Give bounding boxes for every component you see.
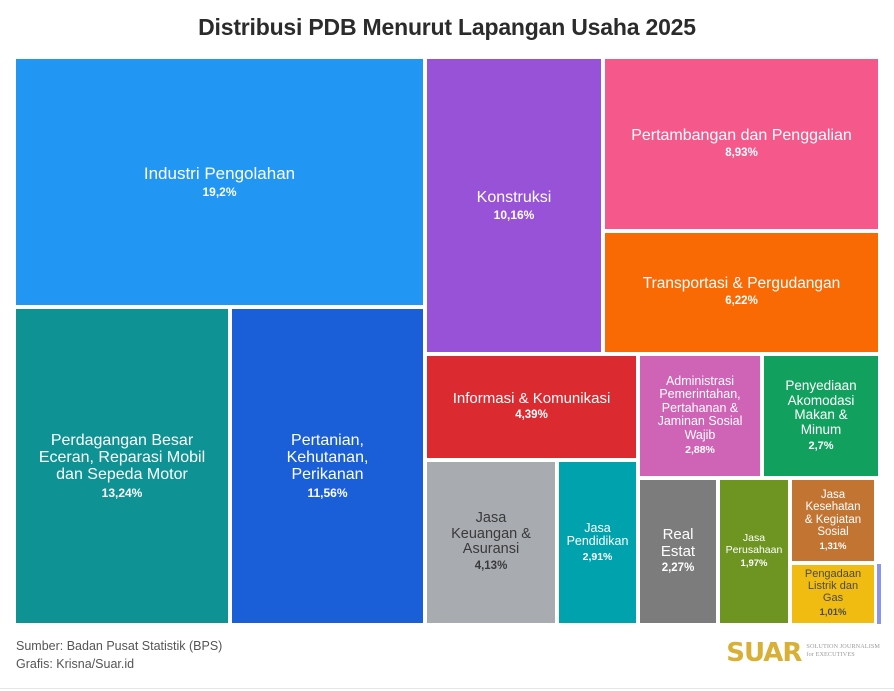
treemap-tile-jasa-perusahaan[interactable]: Jasa Perusahaan 1,97% (718, 478, 790, 625)
tile-label: Penyediaan Akomodasi Makan & Minum (785, 379, 856, 437)
tile-label: Perdagangan Besar Eceran, Reparasi Mobil… (39, 432, 205, 484)
page-title: Distribusi PDB Menurut Lapangan Usaha 20… (0, 14, 894, 41)
tile-label: Konstruksi (477, 189, 552, 206)
treemap-tile-transportasi-pergudangan[interactable]: Transportasi & Pergudangan 6,22% (603, 231, 880, 354)
logo-tagline: SOLUTION JOURNALISM for EXECUTIVES (806, 643, 880, 660)
tile-label: Pengadaan Listrik dan Gas (805, 569, 861, 605)
tile-label: Jasa Keuangan & Asuransi (451, 511, 531, 558)
treemap-tile-industri-pengolahan[interactable]: Industri Pengolahan 19,2% (14, 57, 425, 307)
tile-label: Jasa Kesehatan & Kegiatan Sosial (805, 489, 861, 539)
tile-label: Informasi & Komunikasi (453, 391, 611, 407)
treemap-tile-administrasi-pemerintahan[interactable]: Administrasi Pemerintahan, Pertahanan & … (638, 354, 762, 478)
tile-value: 2,91% (583, 551, 613, 564)
tile-value: 8,93% (725, 147, 758, 161)
tile-label: Industri Pengolahan (144, 165, 295, 183)
treemap-tile-jasa-pendidikan[interactable]: Jasa Pendidikan 2,91% (557, 460, 638, 625)
treemap-chart-page: Distribusi PDB Menurut Lapangan Usaha 20… (0, 0, 894, 691)
tile-value: 4,39% (515, 409, 548, 423)
treemap-plot-area: Industri Pengolahan 19,2% Perdagangan Be… (14, 57, 880, 625)
treemap-tile-real-estat[interactable]: Real Estat 2,27% (638, 478, 718, 625)
source-credit: Sumber: Badan Pusat Statistik (BPS) Graf… (16, 637, 222, 673)
treemap-tile-pengadaan-listrik-gas[interactable]: Pengadaan Listrik dan Gas 1,01% (790, 563, 876, 625)
tile-value: 11,56% (307, 486, 347, 500)
tile-value: 1,97% (741, 558, 768, 569)
tile-value: 13,24% (102, 486, 143, 500)
tile-value: 19,2% (202, 185, 236, 199)
footer-divider (0, 688, 894, 689)
tile-value: 10,16% (494, 208, 535, 222)
tile-value: 4,13% (475, 560, 508, 574)
logo-wordmark: SUAR (726, 640, 801, 666)
treemap-tile-jasa-keuangan-asuransi[interactable]: Jasa Keuangan & Asuransi 4,13% (425, 460, 557, 625)
tile-label: Transportasi & Pergudangan (643, 276, 841, 293)
tile-label: Administrasi Pemerintahan, Pertahanan & … (658, 375, 743, 443)
treemap-tile-perdagangan-besar[interactable]: Perdagangan Besar Eceran, Reparasi Mobil… (14, 307, 230, 625)
tile-label: Jasa Perusahaan (726, 533, 783, 556)
tile-label: Pertanian, Kehutanan, Perikanan (287, 432, 369, 484)
treemap-tile-pertambangan-penggalian[interactable]: Pertambangan dan Penggalian 8,93% (603, 57, 880, 231)
suar-logo: SUAR SOLUTION JOURNALISM for EXECUTIVES (726, 640, 880, 666)
treemap-tile-informasi-komunikasi[interactable]: Informasi & Komunikasi 4,39% (425, 354, 638, 460)
tile-label: Real Estat (661, 527, 695, 559)
treemap-tile-pertanian-kehutanan-perikanan[interactable]: Pertanian, Kehutanan, Perikanan 11,56% (230, 307, 425, 625)
tile-value: 2,88% (685, 444, 715, 457)
tile-value: 2,27% (662, 562, 695, 576)
treemap-tile-penyediaan-akomodasi[interactable]: Penyediaan Akomodasi Makan & Minum 2,7% (762, 354, 880, 478)
treemap-tile-jasa-kesehatan[interactable]: Jasa Kesehatan & Kegiatan Sosial 1,31% (790, 478, 876, 563)
treemap-tile-konstruksi[interactable]: Konstruksi 10,16% (425, 57, 603, 354)
tile-value: 2,7% (808, 440, 833, 453)
tile-value: 1,31% (820, 541, 847, 552)
tile-value: 1,01% (820, 607, 847, 618)
tile-value: 6,22% (725, 295, 758, 309)
treemap-tile-sliver-other[interactable] (876, 563, 882, 625)
tile-label: Jasa Pendidikan (567, 522, 629, 549)
tile-label: Pertambangan dan Penggalian (631, 127, 852, 144)
